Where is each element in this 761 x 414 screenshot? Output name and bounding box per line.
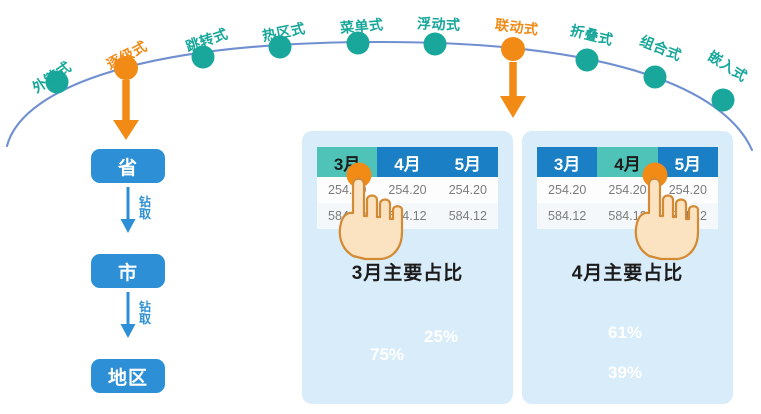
pointing-hand-icon-march[interactable]	[329, 160, 421, 262]
pointing-hand-icon-april[interactable]	[625, 160, 717, 262]
arc-label-9[interactable]: 嵌入式	[704, 46, 751, 86]
arc-label-6[interactable]: 联动式	[494, 14, 540, 39]
drill-label-2: 钻 取	[137, 301, 153, 325]
orange-arrow-right	[500, 62, 526, 118]
pie-label-march-25: 25%	[424, 327, 458, 347]
flow-step-district[interactable]: 地区	[91, 359, 165, 393]
arc-label-2[interactable]: 跳转式	[183, 23, 231, 56]
flow-step-city[interactable]: 市	[91, 254, 165, 288]
hand-shape-march	[340, 179, 402, 259]
table-header-march-2[interactable]: 5月	[438, 147, 498, 177]
arc-label-7[interactable]: 折叠式	[568, 20, 615, 50]
drill-label-2-char-2: 取	[139, 312, 151, 326]
diagram-canvas: 外链式 逐级式 跳转式 热区式 菜单式 浮动式 联动式 折叠式 组合式 嵌入式 …	[0, 0, 761, 414]
panel-title-april: 4月主要占比	[522, 258, 733, 285]
table-header-april-0[interactable]: 3月	[537, 147, 597, 177]
table-cell-march-r0c2: 254.20	[438, 177, 498, 203]
pie-label-april-61: 61%	[608, 323, 642, 343]
drill-label-1: 钻 取	[137, 196, 153, 220]
arc-node-7	[576, 49, 599, 72]
panel-title-march: 3月主要占比	[302, 258, 513, 285]
table-cell-march-r1c2: 584.12	[438, 203, 498, 229]
orange-arrow-left	[113, 80, 139, 140]
arc-node-8	[644, 66, 667, 89]
arc-label-1[interactable]: 逐级式	[103, 36, 151, 74]
hand-shape-april	[636, 179, 698, 259]
arc-node-9	[712, 89, 735, 112]
drill-label-1-char-2: 取	[139, 207, 151, 221]
drill-arrow-1	[121, 187, 136, 233]
drill-arrow-2	[121, 292, 136, 338]
arc-label-8[interactable]: 组合式	[637, 31, 685, 66]
flow-step-province[interactable]: 省	[91, 149, 165, 183]
arc-nodes	[46, 32, 735, 112]
arc-node-6	[501, 37, 525, 61]
table-cell-april-r0c0: 254.20	[537, 177, 597, 203]
arc-node-5	[424, 33, 447, 56]
pie-label-march-75: 75%	[370, 345, 404, 365]
arc-label-3[interactable]: 热区式	[260, 18, 307, 46]
arc-label-0[interactable]: 外链式	[28, 57, 75, 98]
arc-label-4[interactable]: 菜单式	[339, 14, 384, 38]
pie-label-april-39: 39%	[608, 363, 642, 383]
arc-label-5[interactable]: 浮动式	[417, 13, 461, 35]
table-cell-april-r1c0: 584.12	[537, 203, 597, 229]
